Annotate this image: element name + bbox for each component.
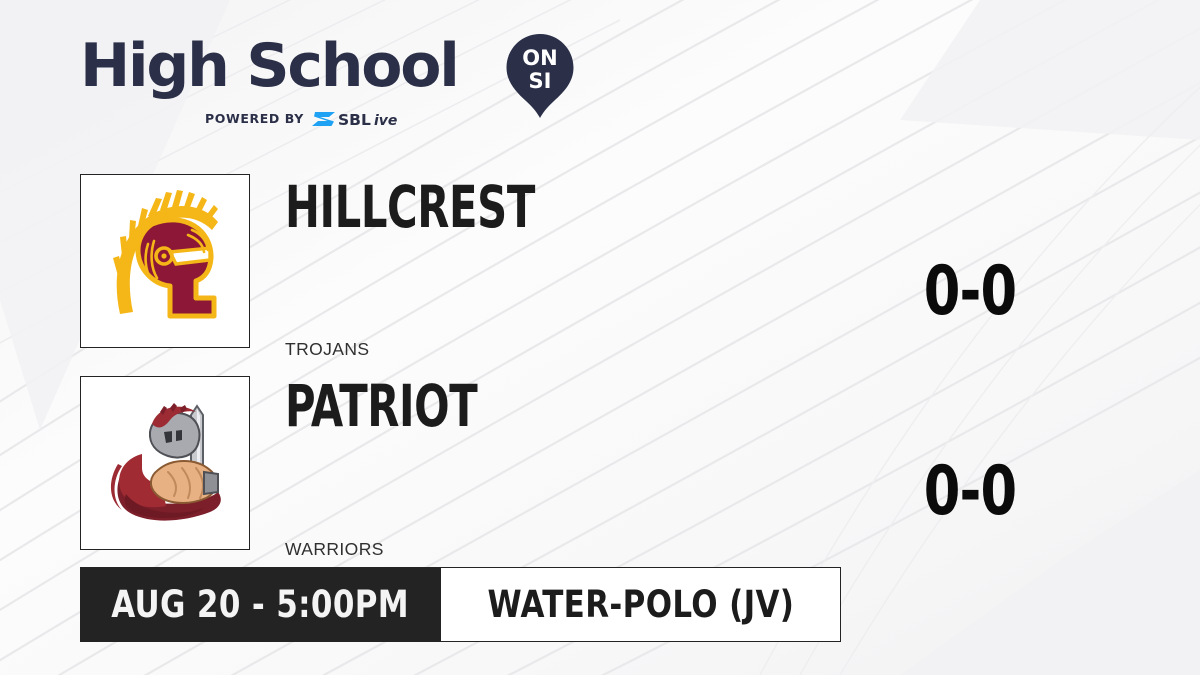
team-mascot-warriors: WARRIORS	[285, 539, 384, 559]
onsi-pin-icon: ON SI	[504, 32, 576, 120]
scoreboard-card: High School ON SI POWERED BY SBL ive	[0, 0, 1200, 675]
sblive-wordmark-sbl: SBL	[338, 111, 371, 129]
team-name-patriot: PATRIOT	[285, 377, 477, 435]
sblive-wordmark-ive: ive	[374, 113, 397, 129]
team-score-hillcrest: 0-0	[914, 258, 1026, 326]
sblive-logo-icon: SBL ive	[311, 109, 419, 129]
spartan-warrior-icon	[92, 388, 238, 538]
brand-title: High School	[80, 34, 458, 98]
team-mascot-trojans: TROJANS	[285, 339, 369, 359]
powered-by-row: POWERED BY SBL ive	[205, 110, 419, 128]
team-logo-box-hillcrest[interactable]	[80, 174, 250, 348]
team-name-hillcrest: HILLCREST	[285, 178, 535, 236]
team-logo-box-patriot[interactable]	[80, 376, 250, 550]
onsi-pin-line1: ON	[522, 46, 557, 70]
game-sport-chip[interactable]: WATER-POLO (JV)	[440, 567, 841, 642]
brand-header: High School ON SI POWERED BY SBL ive	[80, 34, 510, 138]
powered-by-label: POWERED BY	[205, 110, 304, 128]
game-sport-label: WATER-POLO (JV)	[487, 585, 794, 625]
trojan-helmet-icon	[92, 186, 238, 336]
game-datetime-chip[interactable]: AUG 20 - 5:00PM	[80, 567, 440, 642]
game-datetime-label: AUG 20 - 5:00PM	[111, 585, 409, 625]
footer-bar: AUG 20 - 5:00PM WATER-POLO (JV)	[80, 567, 841, 642]
onsi-pin-line2: SI	[529, 69, 552, 93]
team-score-patriot: 0-0	[914, 458, 1026, 526]
